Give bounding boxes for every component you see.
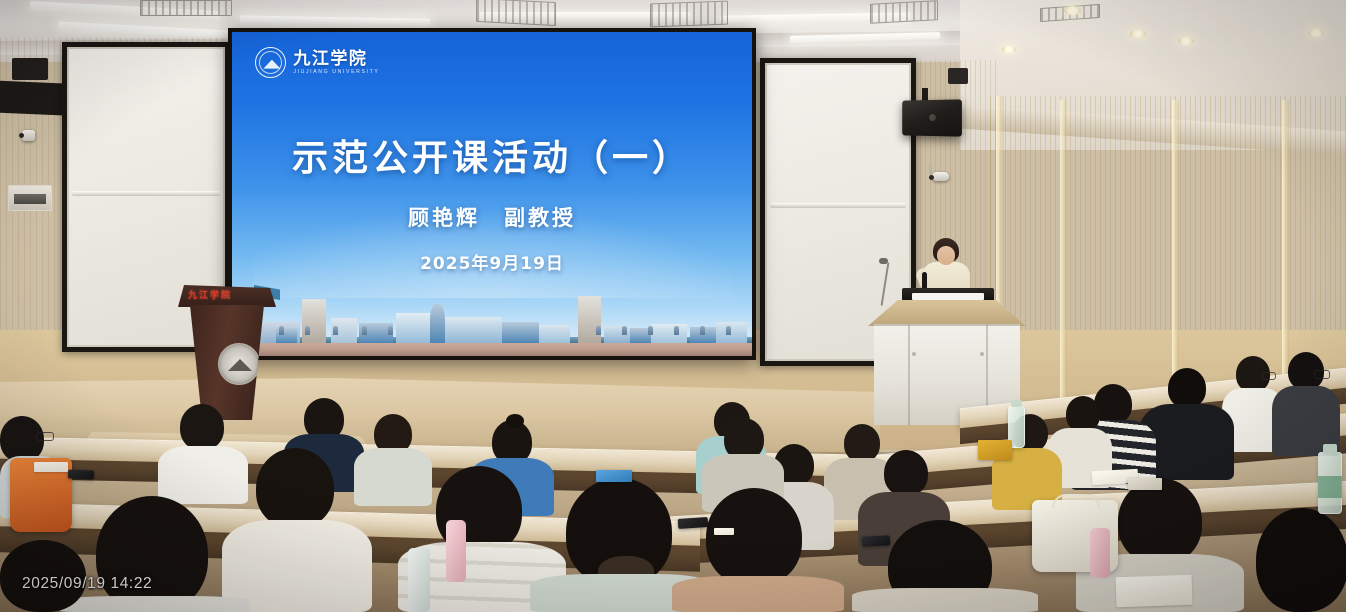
slide-building <box>539 325 570 343</box>
security-camera-icon <box>932 172 949 181</box>
slide-building <box>716 322 747 342</box>
open-notebook <box>1115 575 1192 608</box>
slide-building <box>302 299 326 342</box>
security-camera-icon <box>22 130 35 141</box>
smartphone[interactable] <box>862 535 890 546</box>
blue-folder <box>596 470 632 482</box>
slide-surface: 九江学院 JIUJIANG UNIVERSITY 示范公开课活动（一） 顾艳辉 … <box>232 32 752 356</box>
lectern-top <box>868 300 1026 326</box>
timestamp-overlay: 2025/09/19 14:22 <box>22 575 152 593</box>
handbag-strap <box>1052 494 1100 508</box>
camera-mount <box>929 165 932 174</box>
slide-presenter-line: 顾艳辉 副教授 <box>232 202 752 232</box>
smartphone[interactable] <box>678 517 709 529</box>
hvac-grille <box>476 0 556 26</box>
speaker-podium: 九江学院 <box>178 285 276 420</box>
podium-nameplate: 九江学院 <box>188 288 232 301</box>
downlight <box>1130 30 1146 38</box>
slide-logo: 九江学院 JIUJIANG UNIVERSITY <box>255 47 379 78</box>
downlight <box>1308 29 1324 37</box>
bottle-label <box>1318 476 1342 498</box>
hvac-grille <box>870 0 938 24</box>
bottle-cap <box>1011 400 1022 407</box>
slide-building <box>651 324 687 343</box>
downlight <box>1178 37 1194 45</box>
slide-logo-en: JIUJIANG UNIVERSITY <box>293 69 379 75</box>
speaker-bracket <box>948 68 968 84</box>
podium-body <box>190 305 264 420</box>
hvac-grille <box>650 1 728 28</box>
wall-speaker-icon <box>902 99 962 136</box>
wall-panel-seam <box>1060 100 1067 420</box>
microphone-icon <box>879 258 888 264</box>
pink-tumbler <box>446 520 466 582</box>
smartphone[interactable] <box>68 470 94 480</box>
university-emblem-icon <box>255 47 286 78</box>
slide-date: 2025年9月19日 <box>232 249 752 274</box>
lectern-papers <box>912 293 984 300</box>
slide-building <box>502 322 538 343</box>
projector-mount-bracket <box>12 58 48 80</box>
slide-title: 示范公开课活动（一） <box>232 129 752 181</box>
hvac-grille <box>140 0 232 16</box>
slide-gate-pillar <box>578 296 601 342</box>
slide-logo-cn: 九江学院 <box>293 50 379 67</box>
podium-emblem-icon <box>218 343 260 385</box>
downlight <box>1064 6 1081 15</box>
water-bottle <box>408 548 430 612</box>
bottle-cap <box>1323 444 1337 454</box>
slide-plaza <box>232 343 752 356</box>
pen <box>714 528 734 535</box>
whiteboard-rail <box>770 203 906 208</box>
slide-campus-skyline <box>232 281 752 356</box>
slide-building <box>430 304 446 343</box>
presenter-face <box>937 246 955 265</box>
notebook <box>34 462 68 472</box>
whiteboard-rail <box>72 191 220 196</box>
downlight <box>1002 46 1016 53</box>
slide-building <box>445 317 502 342</box>
pink-tumbler <box>1090 528 1110 578</box>
projection-screen[interactable]: 九江学院 JIUJIANG UNIVERSITY 示范公开课活动（一） 顾艳辉 … <box>228 28 756 360</box>
lecture-hall-photo: 九江学院 JIUJIANG UNIVERSITY 示范公开课活动（一） 顾艳辉 … <box>0 0 1346 612</box>
yellow-book <box>978 440 1012 460</box>
notebook <box>1128 478 1162 490</box>
wall-control-panel <box>8 185 52 211</box>
